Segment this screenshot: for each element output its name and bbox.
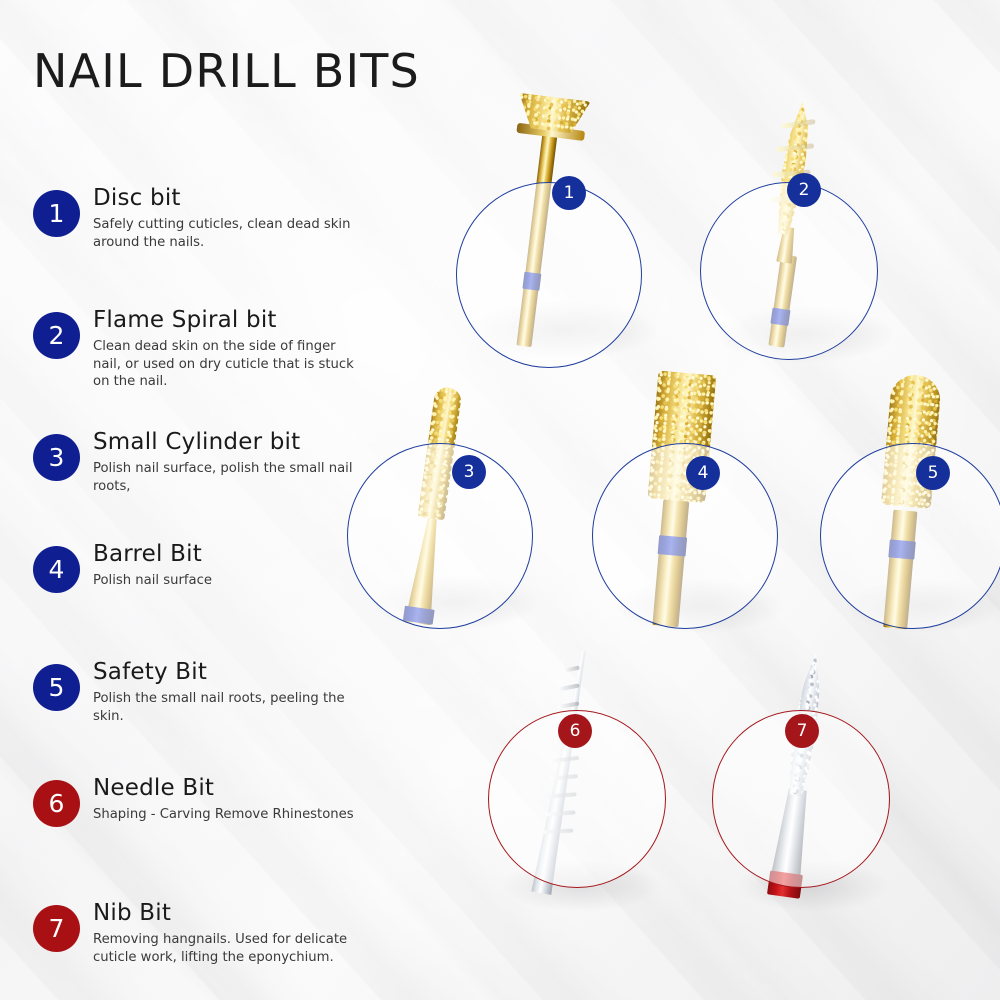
callout-badge-3: 3 <box>452 455 486 489</box>
legend-title-1: Disc bit <box>93 186 355 211</box>
legend-desc-4: Polish nail surface <box>93 572 355 590</box>
callout-badge-1: 1 <box>552 176 586 210</box>
legend-badge-7: 7 <box>33 905 80 952</box>
legend-badge-4: 4 <box>33 546 80 593</box>
callout-ring-2 <box>700 182 878 360</box>
callout-ring-4 <box>592 443 778 629</box>
legend-desc-2: Clean dead skin on the side of finger na… <box>93 338 355 391</box>
callout-badge-2: 2 <box>787 173 821 207</box>
legend-desc-1: Safely cutting cuticles, clean dead skin… <box>93 216 355 251</box>
legend-desc-3: Polish nail surface, polish the small na… <box>93 460 355 495</box>
callout-badge-4: 4 <box>686 456 720 490</box>
legend-title-6: Needle Bit <box>93 776 355 801</box>
legend-title-5: Safety Bit <box>93 660 355 685</box>
page-title: NAIL DRILL BITS <box>33 44 420 98</box>
legend-title-4: Barrel Bit <box>93 542 355 567</box>
legend-title-2: Flame Spiral bit <box>93 308 355 333</box>
callout-badge-5: 5 <box>916 456 950 490</box>
callout-badge-7: 7 <box>785 714 819 748</box>
infographic-canvas: NAIL DRILL BITS 1 Disc bit Safely cuttin… <box>0 0 1000 1000</box>
callout-ring-1 <box>456 182 642 368</box>
legend-title-3: Small Cylinder bit <box>93 430 355 455</box>
callout-ring-5 <box>820 443 1000 629</box>
legend-badge-1: 1 <box>33 190 80 237</box>
callout-ring-3 <box>347 443 533 629</box>
legend-badge-2: 2 <box>33 312 80 359</box>
callout-badge-6: 6 <box>558 714 592 748</box>
legend-badge-6: 6 <box>33 780 80 827</box>
legend-desc-7: Removing hangnails. Used for delicate cu… <box>93 931 355 966</box>
legend-desc-6: Shaping - Carving Remove Rhinestones <box>93 806 355 824</box>
legend-desc-5: Polish the small nail roots, peeling the… <box>93 690 355 725</box>
legend-badge-5: 5 <box>33 664 80 711</box>
legend-title-7: Nib Bit <box>93 901 355 926</box>
legend-badge-3: 3 <box>33 434 80 481</box>
